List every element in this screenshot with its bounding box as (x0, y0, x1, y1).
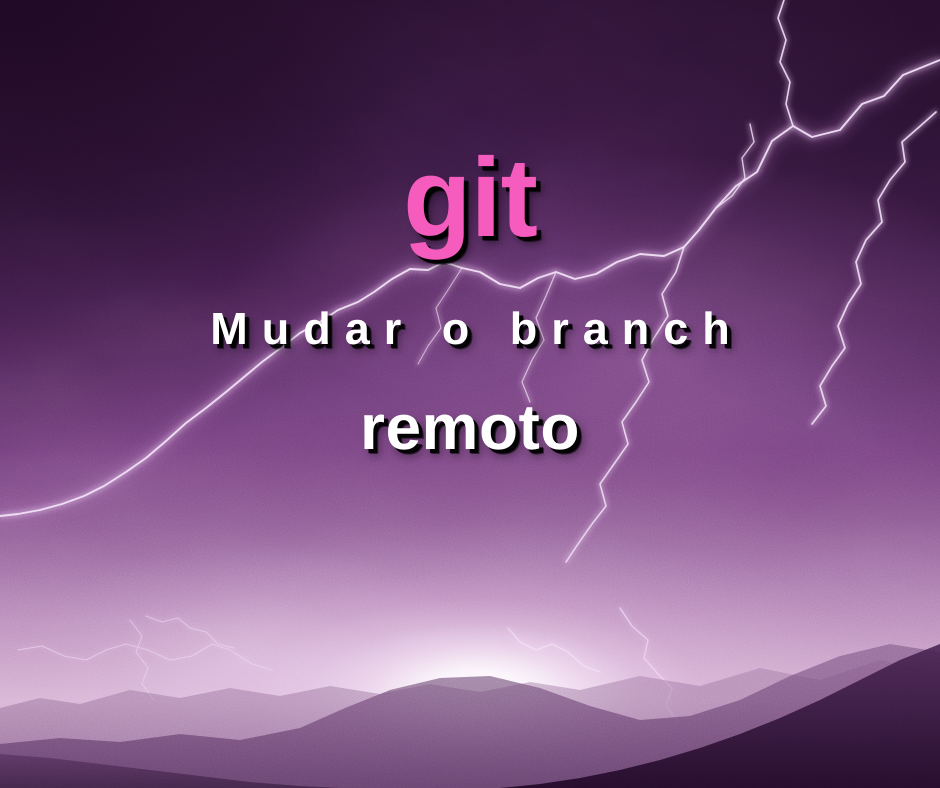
poster-title-git: git (403, 142, 537, 254)
poster-subtitle-line-1: Mudar o branch (196, 306, 744, 351)
poster-canvas: git Mudar o branch remoto (0, 0, 940, 788)
poster-subtitle-line-2: remoto (360, 395, 580, 459)
poster-text-stack: git Mudar o branch remoto (0, 0, 940, 788)
